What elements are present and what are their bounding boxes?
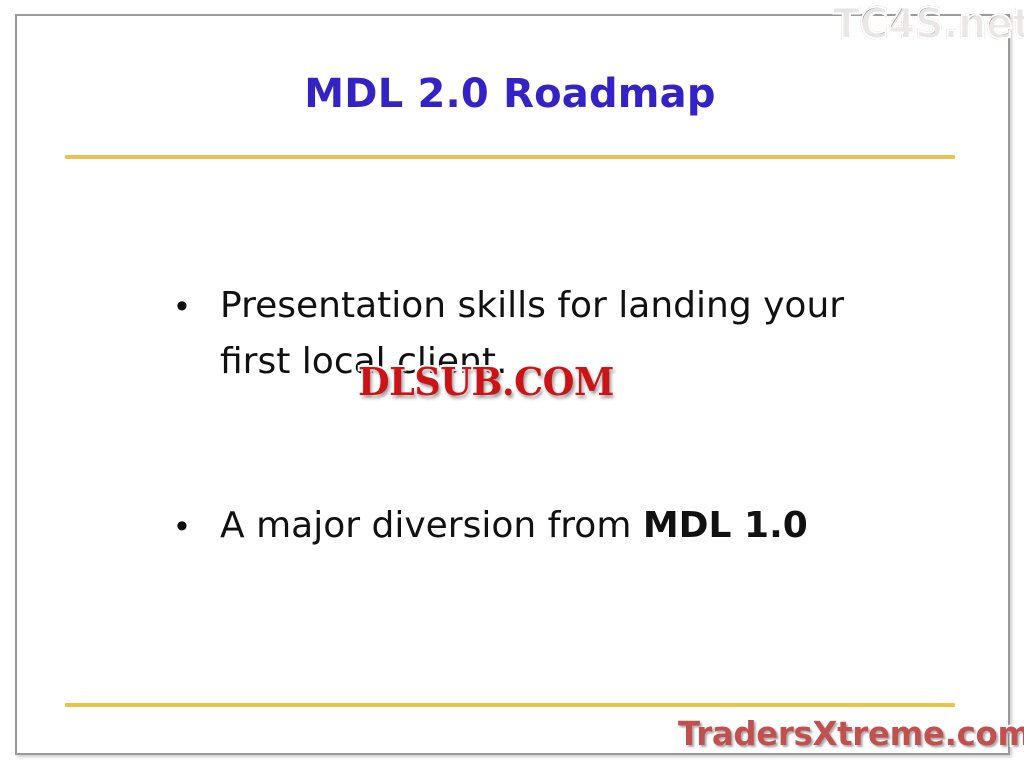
- footer-divider-bottom: [65, 703, 955, 707]
- page-title: MDL 2.0 Roadmap: [65, 72, 955, 116]
- slide-title-block: MDL 2.0 Roadmap: [65, 72, 955, 116]
- list-item: • A major diversion from MDL 1.0: [170, 498, 960, 554]
- bullet-dot-icon: •: [170, 278, 220, 334]
- watermark-dlsub: DLSUB.COM: [358, 360, 614, 404]
- bullet-dot-icon: •: [170, 498, 220, 554]
- presentation-slide: MDL 2.0 Roadmap • Presentation skills fo…: [0, 0, 1024, 768]
- bullet-text-2: A major diversion from MDL 1.0: [220, 498, 870, 554]
- slide-body-bullet-list: • Presentation skills for landing your f…: [170, 278, 960, 554]
- watermark-tc4s: TC4S.net: [833, 2, 1024, 46]
- title-divider-top: [65, 155, 955, 159]
- watermark-tradersxtreme: TradersXtreme.com: [678, 714, 1024, 754]
